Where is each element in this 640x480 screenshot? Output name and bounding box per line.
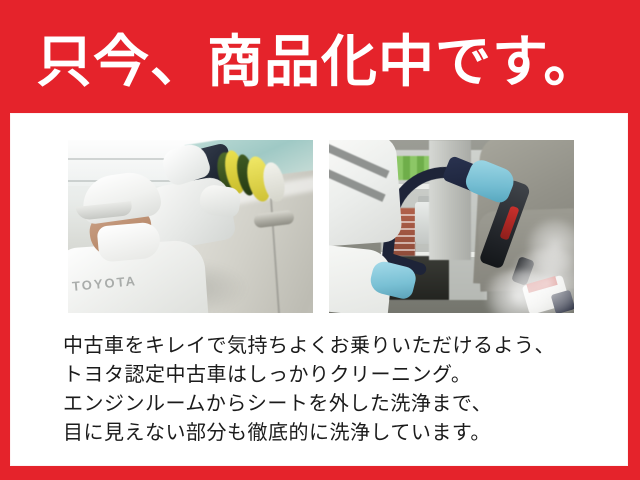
steam-cleaning-photo xyxy=(329,140,574,313)
content-panel: TOYOTA xyxy=(10,113,628,466)
description-line-3: エンジンルームからシートを外した洗浄まで、 xyxy=(63,389,611,418)
page-title: 只今、商品化中です。 xyxy=(36,27,608,99)
photo-row: TOYOTA xyxy=(68,140,574,313)
description-line-1: 中古車をキレイで気持ちよくお乗りいただけるよう、 xyxy=(63,331,611,360)
banner-header: 只今、商品化中です。 xyxy=(0,0,640,110)
polishing-photo: TOYOTA xyxy=(68,140,313,313)
description-line-2: トヨタ認定中古車はしっかりクリーニング。 xyxy=(63,360,611,389)
steam-cloud xyxy=(479,270,557,313)
description-line-4: 目に見えない部分も徹底的に洗浄しています。 xyxy=(63,418,611,447)
description-text: 中古車をキレイで気持ちよくお乗りいただけるよう、 トヨタ認定中古車はしっかりクリ… xyxy=(63,331,611,447)
promo-banner: 只今、商品化中です。 xyxy=(0,0,640,480)
steam-cleaning-photo-content xyxy=(329,140,574,313)
polishing-photo-content: TOYOTA xyxy=(68,140,313,313)
